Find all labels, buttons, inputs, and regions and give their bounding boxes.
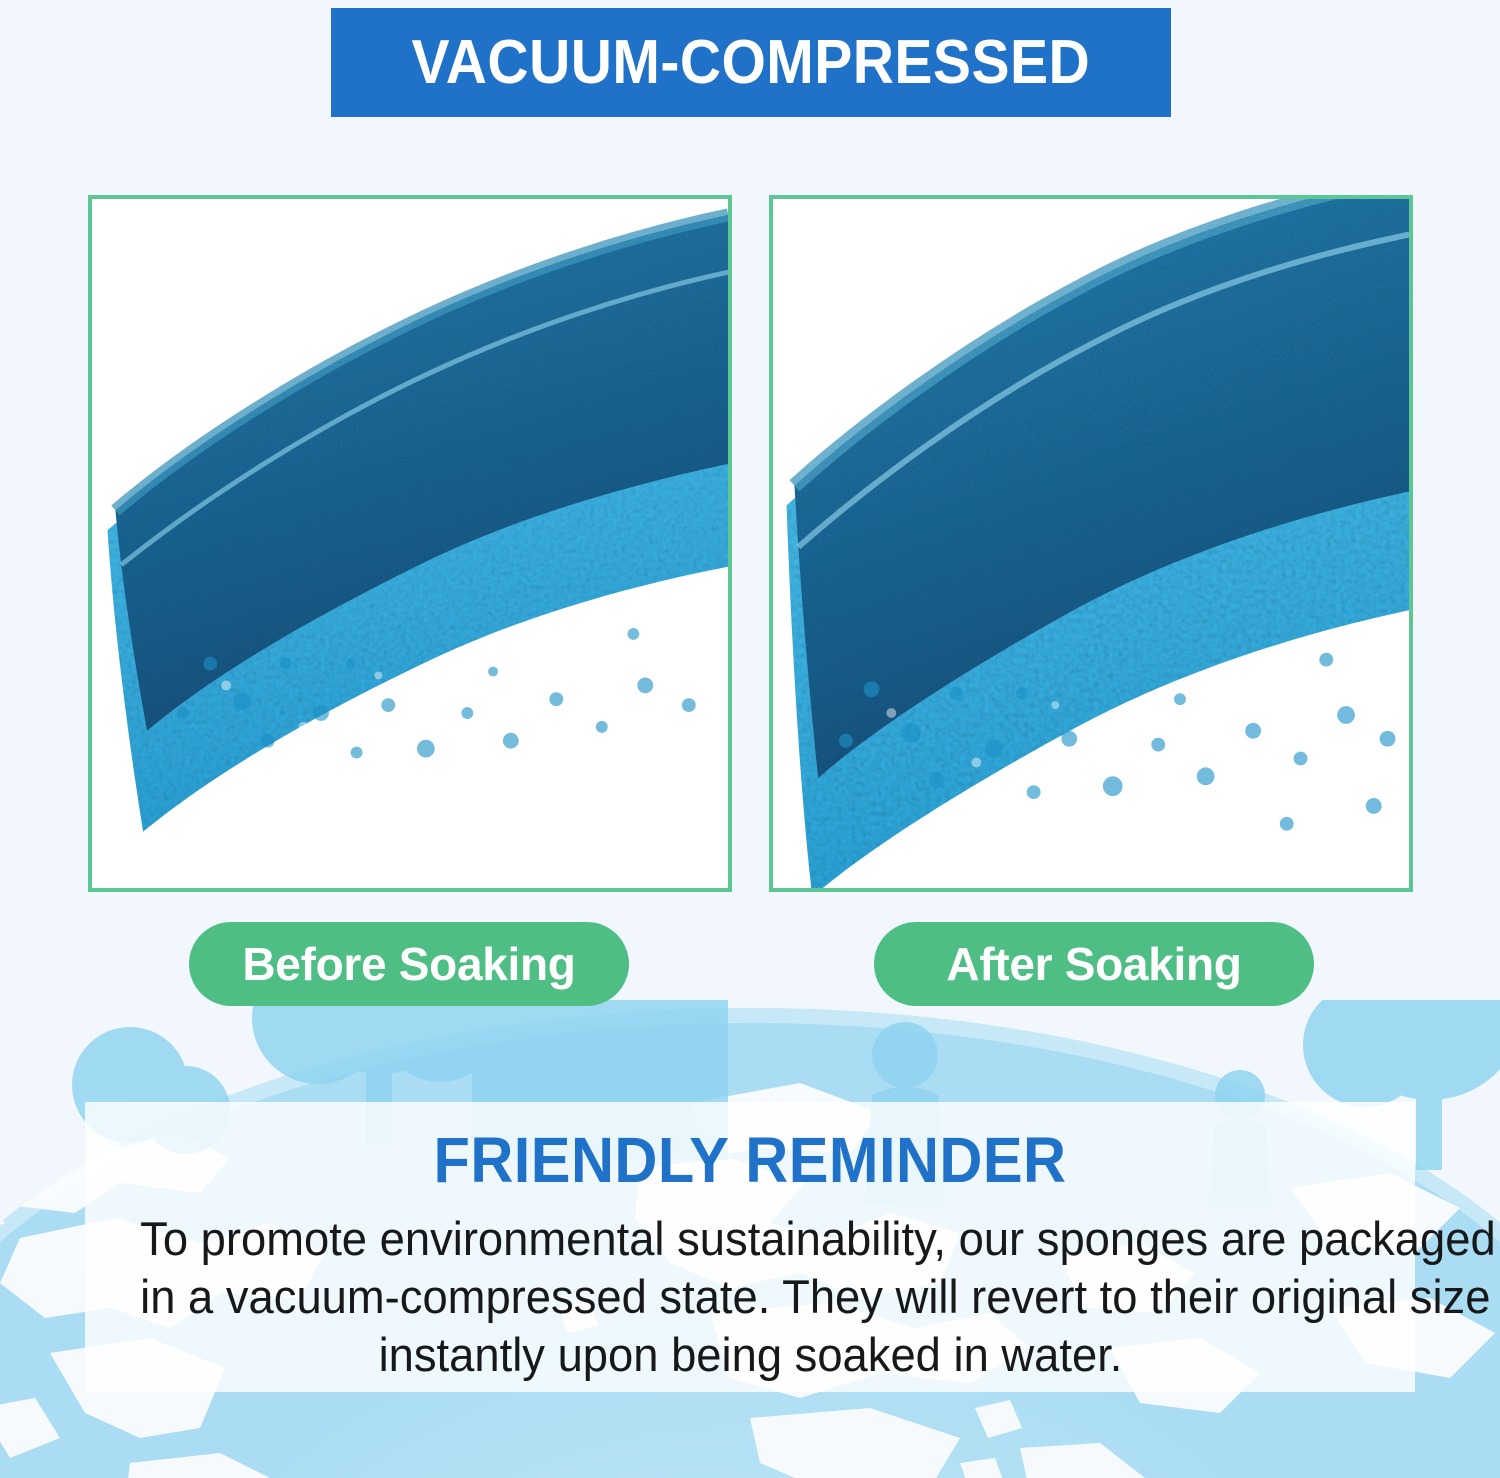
panel-before-soaking — [88, 195, 732, 892]
reminder-body: To promote environmental sustainability,… — [140, 1210, 1361, 1383]
caption-pill-after: After Soaking — [874, 922, 1314, 1006]
reminder-body-line-1: To promote environmental sustainability,… — [140, 1210, 1361, 1268]
sponge-after-image — [773, 199, 1409, 888]
reminder-section: FRIENDLY REMINDER To promote environment… — [0, 1128, 1500, 1383]
reminder-title: FRIENDLY REMINDER — [53, 1128, 1448, 1192]
reminder-body-line-2: in a vacuum-compressed state. They will … — [140, 1268, 1361, 1326]
caption-pill-before: Before Soaking — [189, 922, 629, 1006]
header-banner: VACUUM-COMPRESSED — [331, 8, 1171, 117]
sponge-before-image — [92, 199, 728, 888]
caption-label-before: Before Soaking — [242, 937, 575, 991]
comparison-panels — [0, 195, 1500, 895]
panel-after-soaking — [769, 195, 1413, 892]
reminder-body-line-3: instantly upon being soaked in water. — [140, 1326, 1361, 1384]
caption-label-after: After Soaking — [946, 937, 1241, 991]
header-title: VACUUM-COMPRESSED — [412, 27, 1091, 98]
